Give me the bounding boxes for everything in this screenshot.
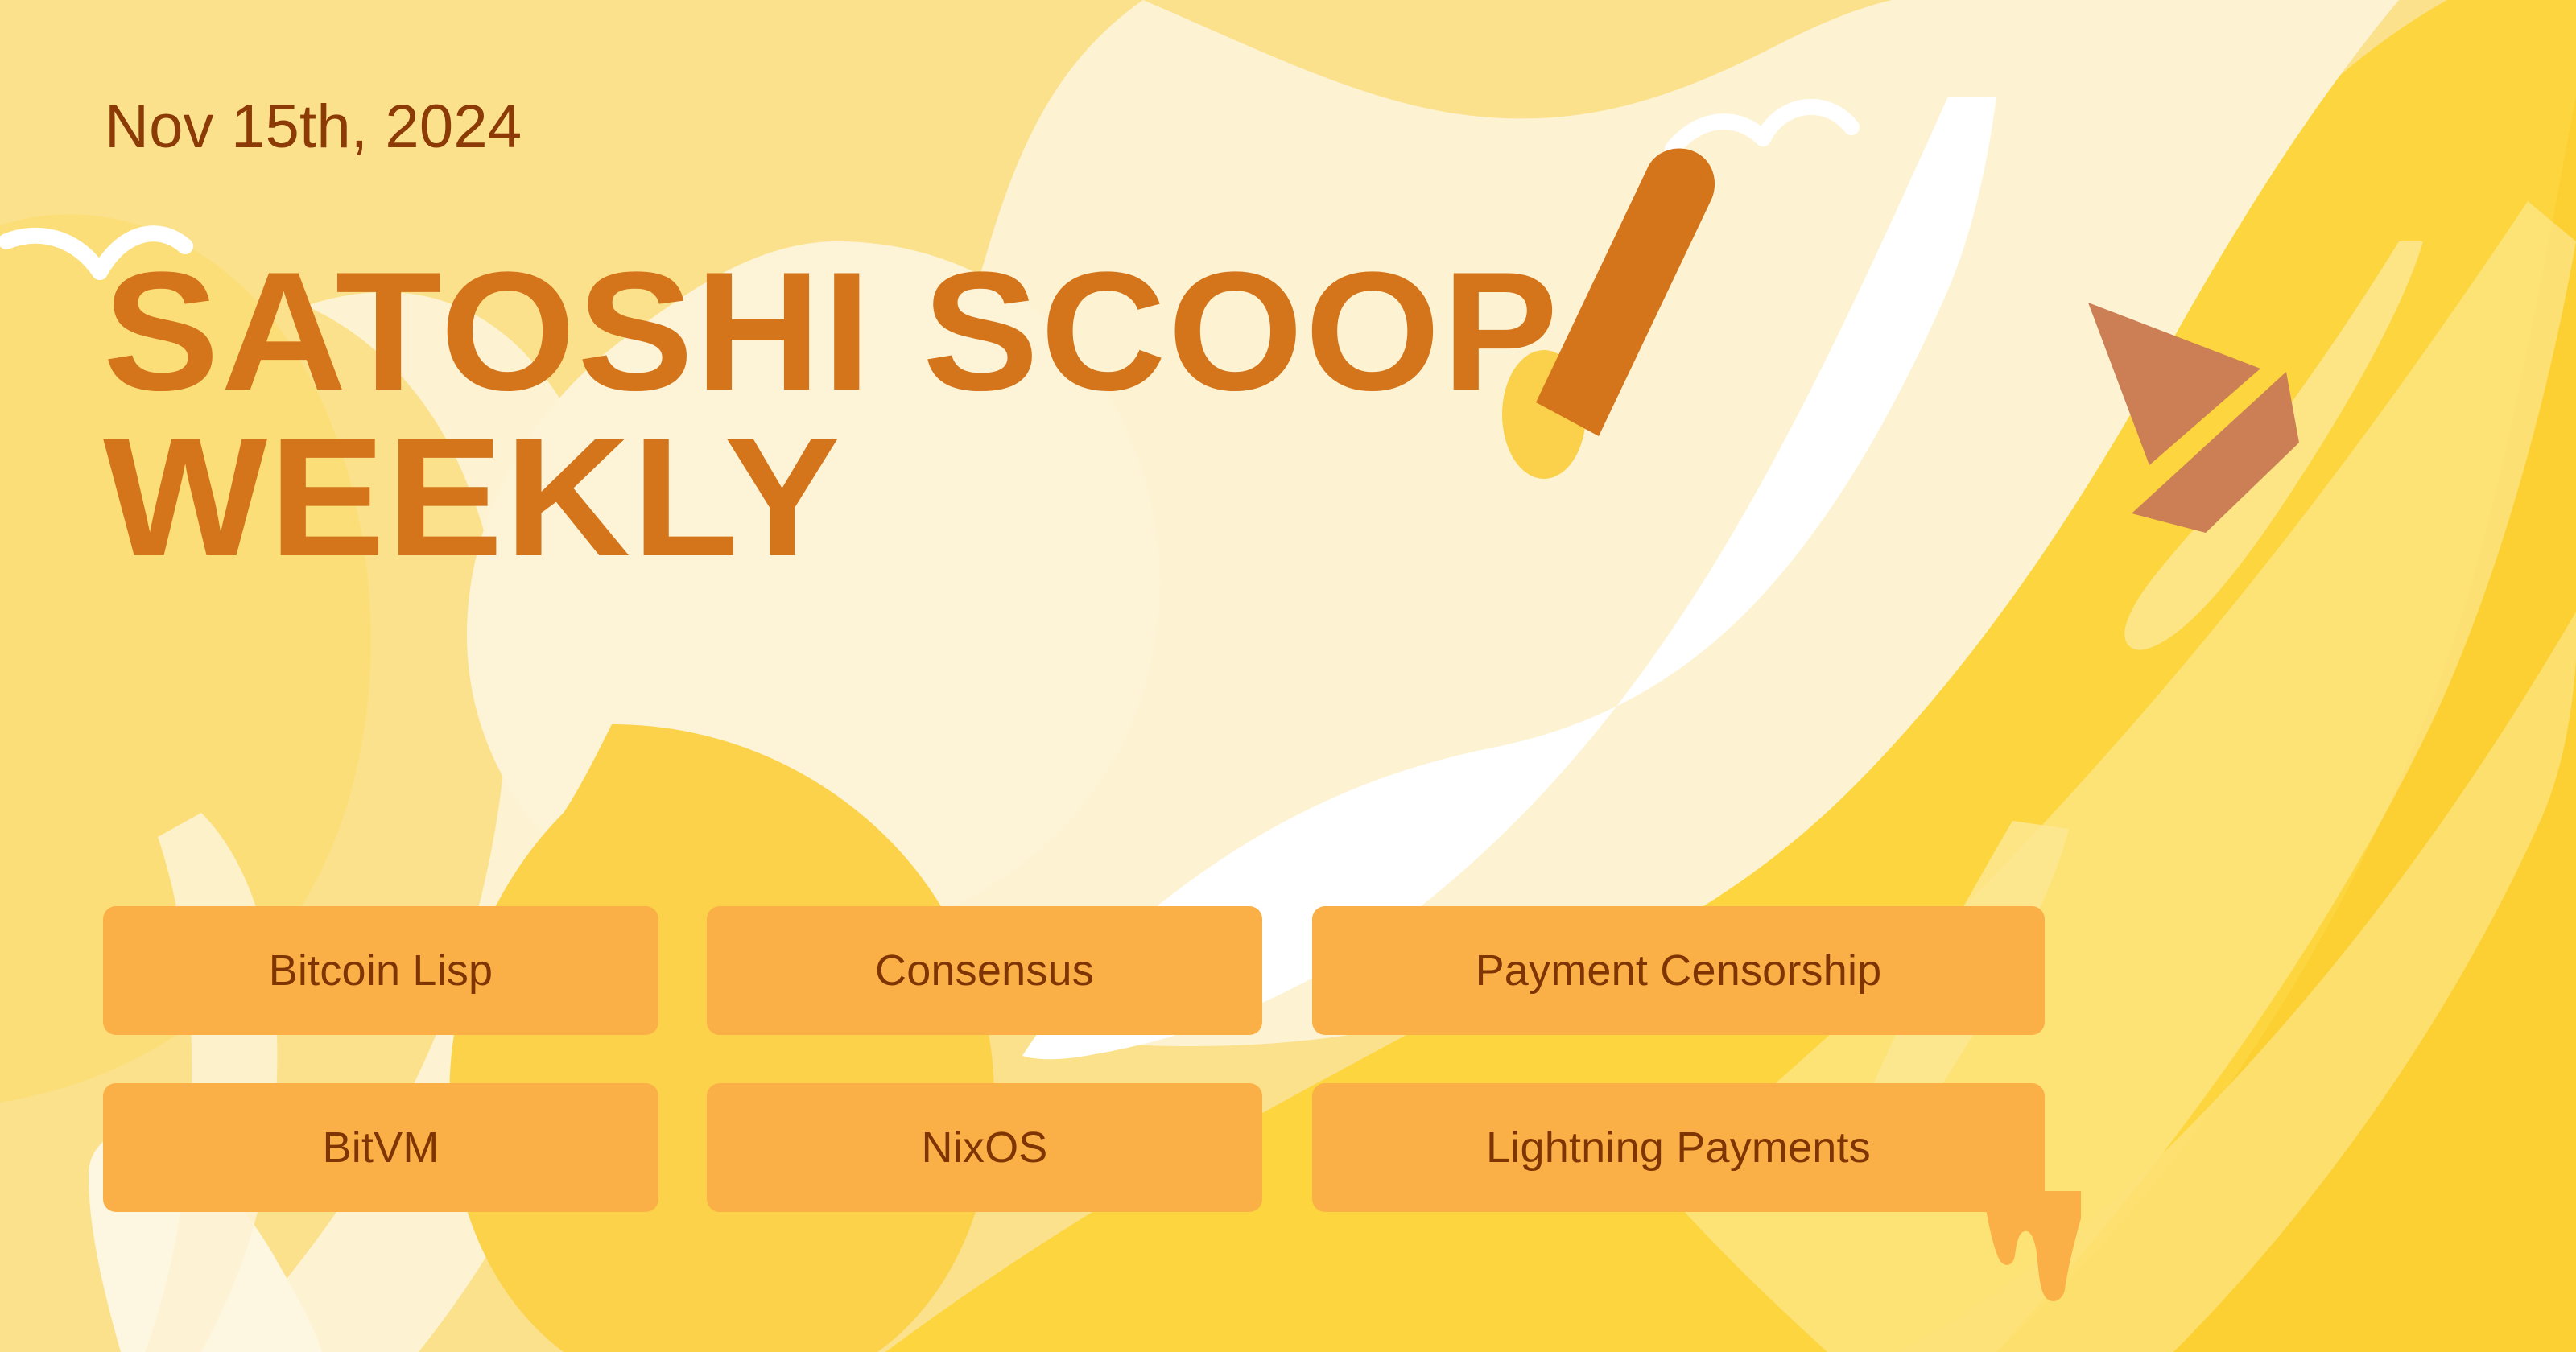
topic-tag-grid: Bitcoin Lisp Consensus Payment Censorshi…: [103, 906, 2045, 1212]
spoon-handle-cap: [1656, 155, 1701, 200]
tag-bitvm[interactable]: BitVM: [103, 1083, 658, 1212]
tag-gap: [1262, 906, 1312, 1035]
tag-nixos[interactable]: NixOS: [707, 1083, 1262, 1212]
tag-gap: [1262, 1083, 1312, 1212]
page-title: SATOSHI SCOOP WEEKLY: [103, 266, 2135, 563]
topic-tag-row-2: BitVM NixOS Lightning Payments: [103, 1083, 2045, 1212]
tag-gap: [658, 906, 707, 1035]
issue-date: Nov 15th, 2024: [105, 97, 522, 158]
sailboat-icon: [2045, 274, 2318, 539]
tag-label: Consensus: [875, 946, 1094, 995]
tag-bitcoin-lisp[interactable]: Bitcoin Lisp: [103, 906, 658, 1035]
tag-label: NixOS: [921, 1123, 1047, 1173]
tag-lightning-payments[interactable]: Lightning Payments: [1312, 1083, 2045, 1212]
tag-payment-censorship[interactable]: Payment Censorship: [1312, 906, 2045, 1035]
tag-label: Bitcoin Lisp: [269, 946, 493, 995]
tag-gap: [658, 1083, 707, 1212]
topic-tag-row-1: Bitcoin Lisp Consensus Payment Censorshi…: [103, 906, 2045, 1035]
tag-label: Payment Censorship: [1476, 946, 1882, 995]
page-title-line-1: SATOSHI SCOOP: [103, 266, 2135, 398]
tag-label: BitVM: [322, 1123, 439, 1173]
page-title-line-2: WEEKLY: [103, 431, 2135, 563]
tag-label: Lightning Payments: [1486, 1123, 1871, 1173]
tag-consensus[interactable]: Consensus: [707, 906, 1262, 1035]
newsletter-cover: Nov 15th, 2024 SATOSHI SCOOP WEEKLY: [0, 0, 2576, 1352]
